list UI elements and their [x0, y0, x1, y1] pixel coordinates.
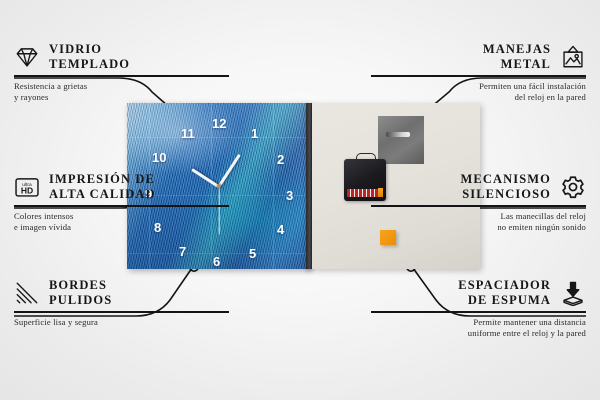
diagonal-lines-icon — [14, 280, 40, 306]
clock-numeral-2: 2 — [277, 153, 284, 166]
feature-header: MANEJAS METAL — [371, 42, 586, 72]
clock-numeral-1: 1 — [251, 127, 258, 140]
feature-description: Colores intensos e imagen vívida — [14, 211, 229, 234]
feature-vidrio-templado: VIDRIO TEMPLADO Resistencia a grietas y … — [14, 42, 229, 103]
feature-description: Las manecillas del reloj no emiten ningú… — [371, 211, 586, 234]
clock-numeral-4: 4 — [277, 223, 284, 236]
feature-header: BORDES PULIDOS — [14, 278, 229, 308]
svg-text:HD: HD — [21, 186, 33, 196]
clock-numeral-6: 6 — [213, 255, 220, 268]
feature-title: BORDES PULIDOS — [49, 278, 112, 308]
clock-numeral-12: 12 — [212, 117, 226, 130]
ultra-hd-icon: ultra HD — [14, 174, 40, 200]
feature-divider — [371, 205, 586, 207]
feature-manejas-metal: MANEJAS METAL Permiten una fácil instala… — [371, 42, 586, 103]
feature-divider — [371, 75, 586, 77]
clock-numeral-3: 3 — [286, 189, 293, 202]
feature-impresion-alta-calidad: ultra HD IMPRESIÓN DE ALTA CALIDAD Color… — [14, 172, 229, 233]
clock-numeral-11: 11 — [181, 127, 195, 140]
feature-title: MECANISMO SILENCIOSO — [461, 172, 551, 202]
feature-divider — [14, 205, 229, 207]
foam-spacer-icon — [560, 280, 586, 306]
feature-mecanismo-silencioso: MECANISMO SILENCIOSO Las manecillas del … — [371, 172, 586, 233]
infographic-canvas: 12 1 2 3 4 5 6 7 8 9 10 11 — [0, 0, 600, 400]
feature-divider — [371, 311, 586, 313]
clock-numeral-10: 10 — [152, 151, 166, 164]
feature-description: Permiten una fácil instalación del reloj… — [371, 81, 586, 104]
clock-numeral-5: 5 — [249, 247, 256, 260]
feature-divider — [14, 75, 229, 77]
feature-title: ESPACIADOR DE ESPUMA — [458, 278, 551, 308]
feature-header: ESPACIADOR DE ESPUMA — [371, 278, 586, 308]
feature-header: ultra HD IMPRESIÓN DE ALTA CALIDAD — [14, 172, 229, 202]
feature-header: VIDRIO TEMPLADO — [14, 42, 229, 72]
feature-divider — [14, 311, 229, 313]
feature-title: IMPRESIÓN DE ALTA CALIDAD — [49, 172, 156, 202]
picture-hanger-icon — [560, 44, 586, 70]
feature-title: MANEJAS METAL — [483, 42, 551, 72]
feature-header: MECANISMO SILENCIOSO — [371, 172, 586, 202]
feature-espaciador-espuma: ESPACIADOR DE ESPUMA Permite mantener un… — [371, 278, 586, 339]
diamond-icon — [14, 44, 40, 70]
feature-description: Superficie lisa y segura — [14, 317, 229, 328]
gear-icon — [560, 174, 586, 200]
hanger-slot — [386, 132, 410, 137]
clock-numeral-7: 7 — [179, 245, 186, 258]
metal-hanger-plate — [378, 116, 424, 164]
movement-hanger-loop — [356, 153, 376, 162]
feature-description: Resistencia a grietas y rayones — [14, 81, 229, 104]
feature-title: VIDRIO TEMPLADO — [49, 42, 130, 72]
feature-description: Permite mantener una distancia uniforme … — [371, 317, 586, 340]
feature-bordes-pulidos: BORDES PULIDOS Superficie lisa y segura — [14, 278, 229, 328]
